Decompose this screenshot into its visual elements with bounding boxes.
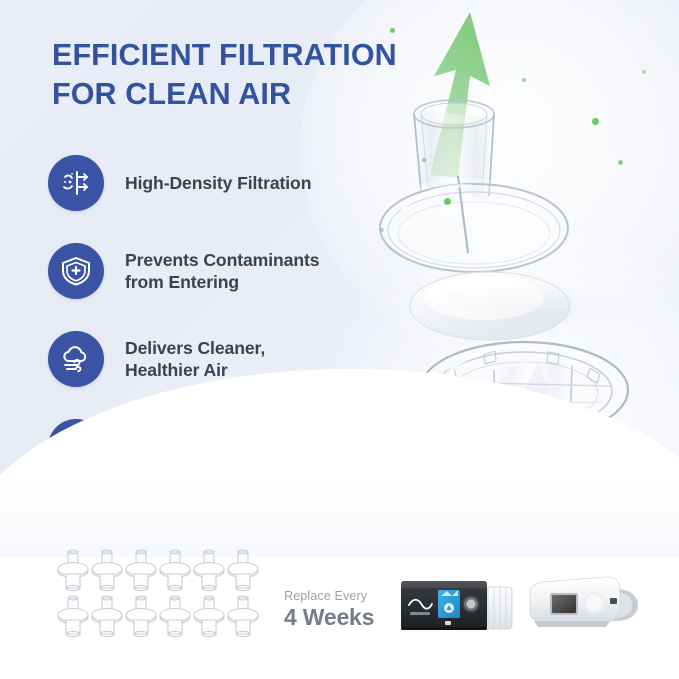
replacement-interval: Replace Every 4 Weeks xyxy=(284,589,390,631)
filter-unit xyxy=(56,549,90,595)
filter-pack-row xyxy=(56,549,256,595)
headline-line-2: FOR CLEAN AIR xyxy=(52,75,442,114)
filter-pack-grid xyxy=(56,549,256,641)
feature-label-line-1: High-Density Filtration xyxy=(125,173,311,193)
feature-label-line-1: Prevents Contaminants xyxy=(125,249,319,271)
cloud-wind-icon xyxy=(48,331,104,387)
filter-unit xyxy=(90,595,124,641)
page-title: EFFICIENT FILTRATION FOR CLEAN AIR xyxy=(52,36,442,115)
filter-unit xyxy=(226,549,260,595)
feature-item-prevents-contaminants: Prevents Contaminants from Entering xyxy=(48,240,388,302)
clean-air-particle xyxy=(522,78,526,82)
filter-unit xyxy=(158,549,192,595)
filter-unit xyxy=(124,549,158,595)
replacement-label: Replace Every xyxy=(284,589,390,603)
filter-unit xyxy=(56,595,90,641)
feature-label: Prevents Contaminants from Entering xyxy=(125,249,319,293)
filter-unit xyxy=(124,595,158,641)
filter-unit xyxy=(192,595,226,641)
clean-air-particle xyxy=(592,118,599,125)
shield-plus-icon xyxy=(48,243,104,299)
feature-label-line-1: Delivers Cleaner, xyxy=(125,337,265,359)
filter-unit xyxy=(226,595,260,641)
clean-air-particle xyxy=(618,160,623,165)
infographic-page: EFFICIENT FILTRATION FOR CLEAN AIR xyxy=(0,0,679,679)
feature-label: High-Density Filtration xyxy=(125,172,311,194)
feature-label-line-2: from Entering xyxy=(125,271,319,293)
filter-unit xyxy=(192,549,226,595)
feature-item-high-density-filtration: High-Density Filtration xyxy=(48,152,388,214)
cpap-machine-white xyxy=(530,577,638,627)
clean-air-particle xyxy=(642,70,646,74)
filter-unit xyxy=(90,549,124,595)
cpap-machine-black xyxy=(401,581,512,630)
filter-pack-row xyxy=(56,595,256,641)
filtration-airflow-icon xyxy=(48,155,104,211)
filter-cap-with-spout xyxy=(380,100,568,272)
filter-unit xyxy=(158,595,192,641)
replacement-value: 4 Weeks xyxy=(284,604,390,631)
compatible-machines xyxy=(398,563,664,641)
headline-line-1: EFFICIENT FILTRATION xyxy=(52,38,397,72)
clean-air-particle xyxy=(444,198,451,205)
clean-air-particle xyxy=(390,28,395,33)
clean-air-particle xyxy=(422,158,426,162)
